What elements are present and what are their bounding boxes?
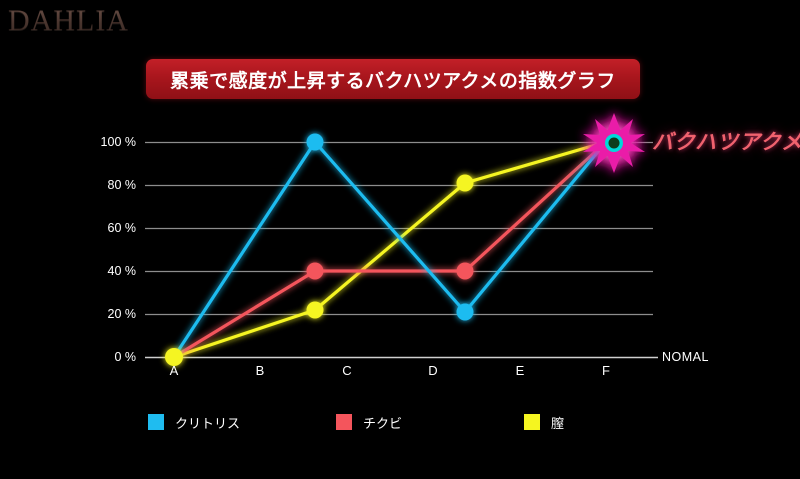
y-tick-20: 20 %: [76, 307, 136, 321]
y-tick-0: 0 %: [76, 350, 136, 364]
data-point-yellow-81: [457, 175, 474, 192]
burst-annotation-label: バクハツアクメ: [652, 126, 800, 156]
x-tick-b: B: [240, 363, 280, 378]
data-point-red-40b: [457, 263, 474, 280]
y-tick-100: 100 %: [76, 135, 136, 149]
series-line-red: [174, 142, 606, 357]
x-tick-e: E: [500, 363, 540, 378]
legend-item-clitoris: クリトリス: [148, 411, 240, 433]
chart-legend: クリトリス チクビ 膣: [148, 411, 588, 433]
data-point-markers: [165, 134, 474, 367]
legend-item-vagina: 膣: [524, 411, 564, 433]
legend-label-clitoris: クリトリス: [175, 413, 240, 432]
x-axis-end-label: NOMAL: [662, 350, 709, 364]
series-line-yellow: [174, 142, 606, 357]
x-tick-d: D: [413, 363, 453, 378]
series-line-cyan: [174, 142, 606, 357]
legend-label-vagina: 膣: [551, 413, 564, 432]
y-tick-60: 60 %: [76, 221, 136, 235]
y-tick-80: 80 %: [76, 178, 136, 192]
x-tick-a: A: [154, 363, 194, 378]
legend-swatch-red: [336, 414, 352, 430]
legend-item-nipple: チクビ: [336, 411, 402, 433]
line-chart: [0, 0, 800, 479]
legend-label-nipple: チクビ: [363, 413, 402, 432]
data-point-yellow-22: [307, 302, 324, 319]
data-point-cyan-21: [457, 304, 474, 321]
x-tick-c: C: [327, 363, 367, 378]
legend-swatch-cyan: [148, 414, 164, 430]
x-tick-f: F: [586, 363, 626, 378]
data-point-cyan-100: [307, 134, 324, 151]
y-tick-40: 40 %: [76, 264, 136, 278]
legend-swatch-yellow: [524, 414, 540, 430]
chart-screenshot: DAHLIA 累乗で感度が上昇するバクハツアクメの指数グラフ: [0, 0, 800, 479]
data-point-red-40a: [307, 263, 324, 280]
